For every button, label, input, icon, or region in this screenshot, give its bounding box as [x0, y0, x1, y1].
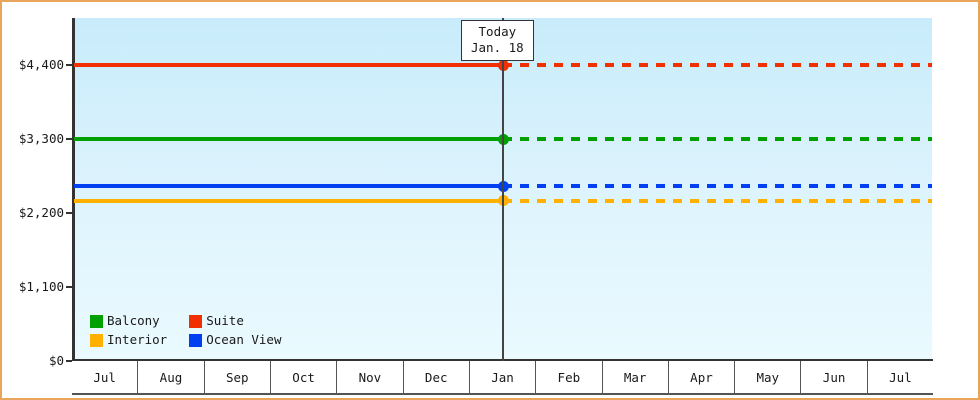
x-axis-month-cell[interactable]: Oct — [271, 361, 337, 394]
y-axis-tick — [66, 212, 74, 214]
legend-color-swatch — [90, 315, 103, 328]
x-axis-month-cell[interactable]: Jul — [868, 361, 933, 394]
y-axis-tick-label: $1,100 — [19, 279, 64, 294]
legend-item[interactable]: Suite — [189, 314, 281, 328]
y-axis-tick — [66, 64, 74, 66]
today-marker-title: Today — [471, 24, 524, 40]
x-axis-month-cell[interactable]: Jan — [470, 361, 536, 394]
legend-item[interactable]: Ocean View — [189, 333, 281, 347]
today-marker-label: Today Jan. 18 — [461, 20, 534, 61]
x-axis-month-cell[interactable]: Jul — [72, 361, 138, 394]
y-axis-line — [72, 18, 75, 361]
y-axis-tick-label: $0 — [49, 353, 64, 368]
y-axis-tick-label: $2,200 — [19, 205, 64, 220]
today-marker-date: Jan. 18 — [471, 40, 524, 56]
series-line-solid — [74, 137, 503, 141]
series-line-solid — [74, 184, 503, 188]
legend-item-label: Balcony — [107, 314, 160, 328]
x-axis-month-cell[interactable]: Dec — [404, 361, 470, 394]
legend-item-label: Interior — [107, 333, 167, 347]
legend-color-swatch — [189, 315, 202, 328]
y-axis-tick-label: $4,400 — [19, 57, 64, 72]
x-axis-month-cell[interactable]: Mar — [603, 361, 669, 394]
series-line-solid — [74, 63, 503, 67]
legend-item[interactable]: Balcony — [90, 314, 167, 328]
y-axis-tick-label: $3,300 — [19, 131, 64, 146]
x-axis-month-labels: JulAugSepOctNovDecJanFebMarAprMayJunJul — [72, 361, 933, 394]
legend-item-label: Suite — [206, 314, 244, 328]
series-line-forecast — [503, 199, 932, 203]
x-axis-month-cell[interactable]: May — [735, 361, 801, 394]
y-axis-tick — [66, 286, 74, 288]
x-axis-month-cell[interactable]: Nov — [337, 361, 403, 394]
chart-legend: BalconySuiteInteriorOcean View — [90, 314, 281, 347]
chart-frame: $0$1,100$2,200$3,300$4,400 Today Jan. 18… — [0, 0, 980, 400]
x-axis-month-cell[interactable]: Sep — [205, 361, 271, 394]
x-axis-month-cell[interactable]: Feb — [536, 361, 602, 394]
legend-color-swatch — [90, 334, 103, 347]
legend-item[interactable]: Interior — [90, 333, 167, 347]
today-vertical-line — [502, 18, 504, 361]
x-axis-month-cell[interactable]: Jun — [801, 361, 867, 394]
legend-item-label: Ocean View — [206, 333, 281, 347]
series-line-solid — [74, 199, 503, 203]
y-axis-tick — [66, 138, 74, 140]
x-axis-bottom-rule — [72, 393, 933, 395]
x-axis-month-cell[interactable]: Aug — [138, 361, 204, 394]
series-line-forecast — [503, 184, 932, 188]
series-line-forecast — [503, 63, 932, 67]
x-axis-month-cell[interactable]: Apr — [669, 361, 735, 394]
series-line-forecast — [503, 137, 932, 141]
legend-color-swatch — [189, 334, 202, 347]
